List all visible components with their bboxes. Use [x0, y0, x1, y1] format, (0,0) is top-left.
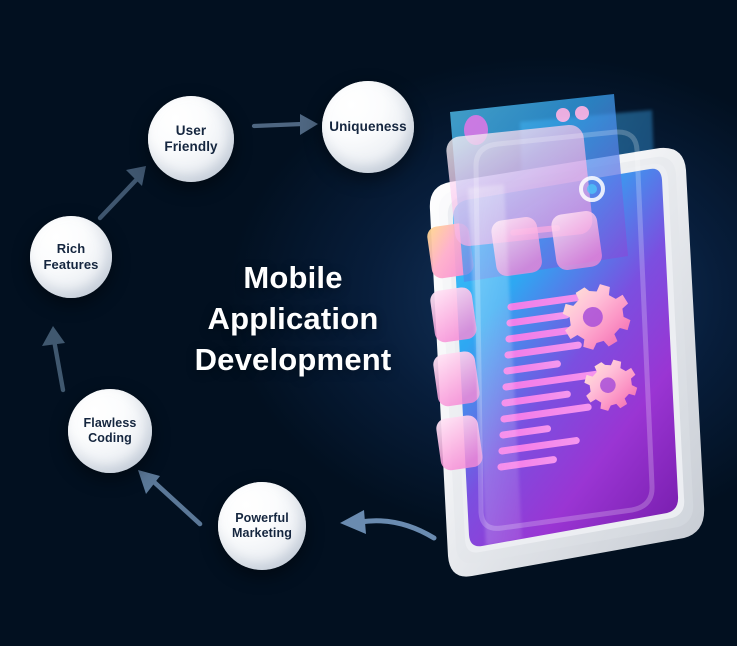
node-label-line2: Marketing	[226, 526, 298, 541]
node-label-line2: Friendly	[158, 139, 223, 155]
node-label-line1: Uniqueness	[323, 119, 413, 135]
title-line-3: Development	[168, 340, 418, 381]
node-label-line2: Coding	[78, 431, 143, 446]
cycle-node-user-friendly[interactable]: User Friendly	[148, 96, 234, 182]
node-label-line2: Features	[38, 257, 105, 273]
cycle-node-uniqueness[interactable]: Uniqueness	[322, 81, 414, 173]
node-label-line1: User	[158, 123, 223, 139]
arrow-powerful-marketing-to-flawless-coding	[124, 462, 216, 536]
node-label-line1: Flawless	[78, 416, 143, 431]
cycle-node-flawless-coding[interactable]: Flawless Coding	[68, 389, 152, 473]
title-line-1: Mobile	[168, 258, 418, 299]
page-title: Mobile Application Development	[168, 258, 418, 381]
node-label-line1: Rich	[38, 241, 105, 257]
node-label-line1: Powerful	[226, 511, 298, 526]
cycle-node-rich-features[interactable]: Rich Features	[30, 216, 112, 298]
smartphone-illustration	[402, 70, 732, 580]
title-line-2: Application	[168, 299, 418, 340]
arrow-user-friendly-to-uniqueness	[248, 104, 324, 146]
arrow-rich-features-to-user-friendly	[88, 158, 160, 230]
poster-canvas: User Friendly Uniqueness Rich Features F…	[0, 0, 737, 646]
arrow-flawless-coding-to-rich-features	[32, 318, 88, 400]
cycle-node-powerful-marketing[interactable]: Powerful Marketing	[218, 482, 306, 570]
